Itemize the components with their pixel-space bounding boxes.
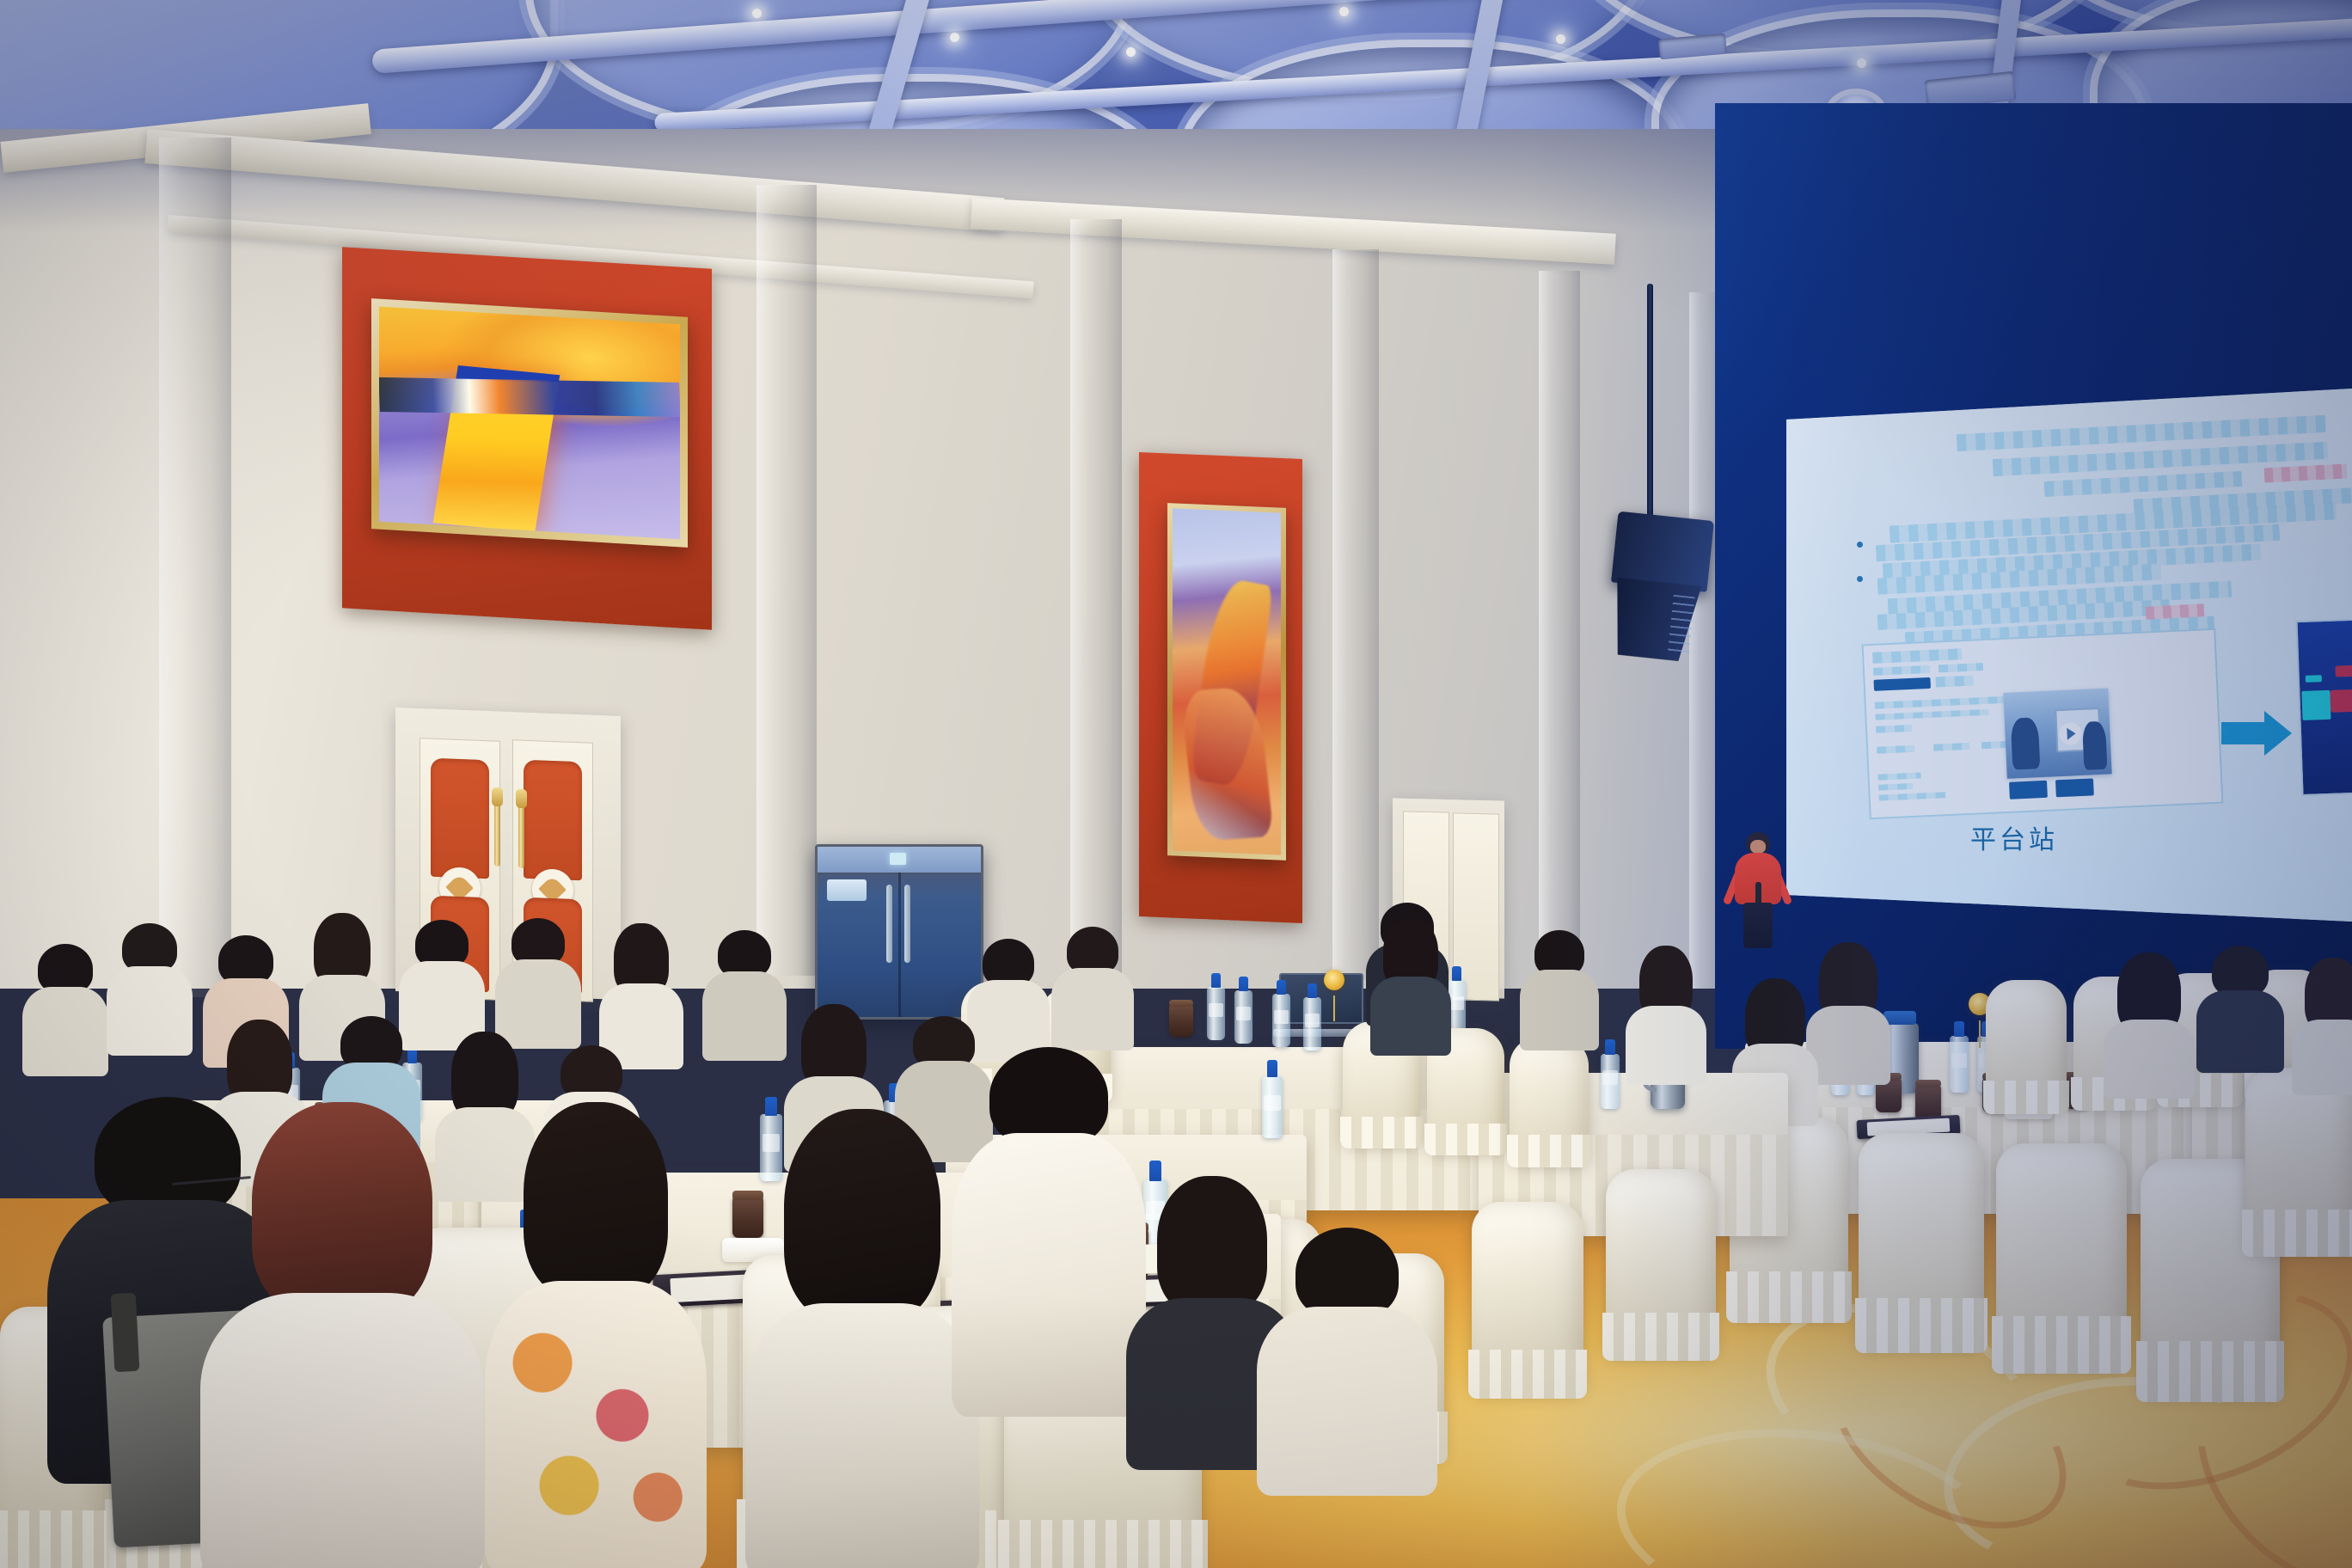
attendee — [1265, 1228, 1429, 1485]
attendee — [2201, 946, 2280, 1075]
attendee — [1523, 930, 1596, 1059]
attendee — [755, 1109, 970, 1568]
mobile-app-screenshot — [2295, 617, 2352, 796]
meeting-photo-thumbnail — [2003, 689, 2111, 779]
wall-pilaster — [159, 138, 231, 997]
slide-bullet-icon — [1857, 576, 1863, 582]
speaker-mount-pole — [1647, 284, 1653, 542]
attendee — [2297, 958, 2352, 1087]
photo-action-button — [2055, 778, 2094, 797]
banquet-chair[interactable] — [1606, 1169, 1716, 1353]
water-bottle — [1234, 990, 1253, 1044]
ceramic-teacup — [1169, 1004, 1193, 1037]
beverage-refrigerator[interactable] — [815, 844, 983, 1020]
water-bottle — [1601, 1054, 1620, 1109]
slide-cta-button — [1873, 677, 1931, 691]
right-arrow-icon — [2221, 722, 2266, 744]
attendee — [1810, 942, 1886, 1071]
attendee — [2108, 952, 2190, 1081]
attendee-white-blouse-foreground — [213, 1102, 471, 1568]
attendee-floral-blouse — [497, 1102, 695, 1568]
water-bottle — [1950, 1036, 1969, 1093]
attendee — [602, 923, 681, 1061]
line-array-speaker — [1604, 511, 1714, 658]
water-bottle — [1207, 987, 1225, 1040]
banquet-chair[interactable] — [1986, 980, 2067, 1109]
slide-caption: 平台站 — [1970, 818, 2058, 856]
attendee — [1630, 946, 1702, 1075]
water-bottle — [1262, 1076, 1283, 1138]
table-number-lamp — [1324, 970, 1344, 1020]
conference-hall-photo: 平台站 — [0, 0, 2352, 1568]
water-bottle — [1272, 994, 1290, 1047]
attendee — [963, 1047, 1135, 1408]
banquet-chair[interactable] — [1859, 1133, 1984, 1344]
door-handle-icon[interactable] — [518, 801, 524, 868]
wall-pilaster — [756, 185, 817, 976]
wall-pilaster — [1070, 219, 1122, 976]
photo-action-button — [2009, 781, 2048, 799]
attendee — [110, 923, 189, 1061]
wall-pilaster — [1539, 271, 1580, 984]
abstract-landscape-painting — [371, 298, 688, 548]
wall-pilaster — [1332, 249, 1379, 980]
slide-bullet-icon — [1857, 542, 1863, 548]
attendee — [705, 930, 784, 1068]
banquet-chair[interactable] — [1472, 1202, 1583, 1391]
attendee — [1374, 918, 1448, 1047]
water-bottle — [1303, 997, 1321, 1050]
projection-screen: 平台站 — [1786, 389, 2352, 922]
attendee — [26, 944, 105, 1081]
banquet-chair[interactable] — [1996, 1143, 2127, 1365]
web-page-screenshot-card — [1862, 628, 2224, 819]
abstract-vertical-painting — [1167, 503, 1286, 861]
door-handle-icon[interactable] — [494, 799, 500, 867]
presenter — [1733, 832, 1783, 946]
attendee — [1056, 927, 1130, 1056]
